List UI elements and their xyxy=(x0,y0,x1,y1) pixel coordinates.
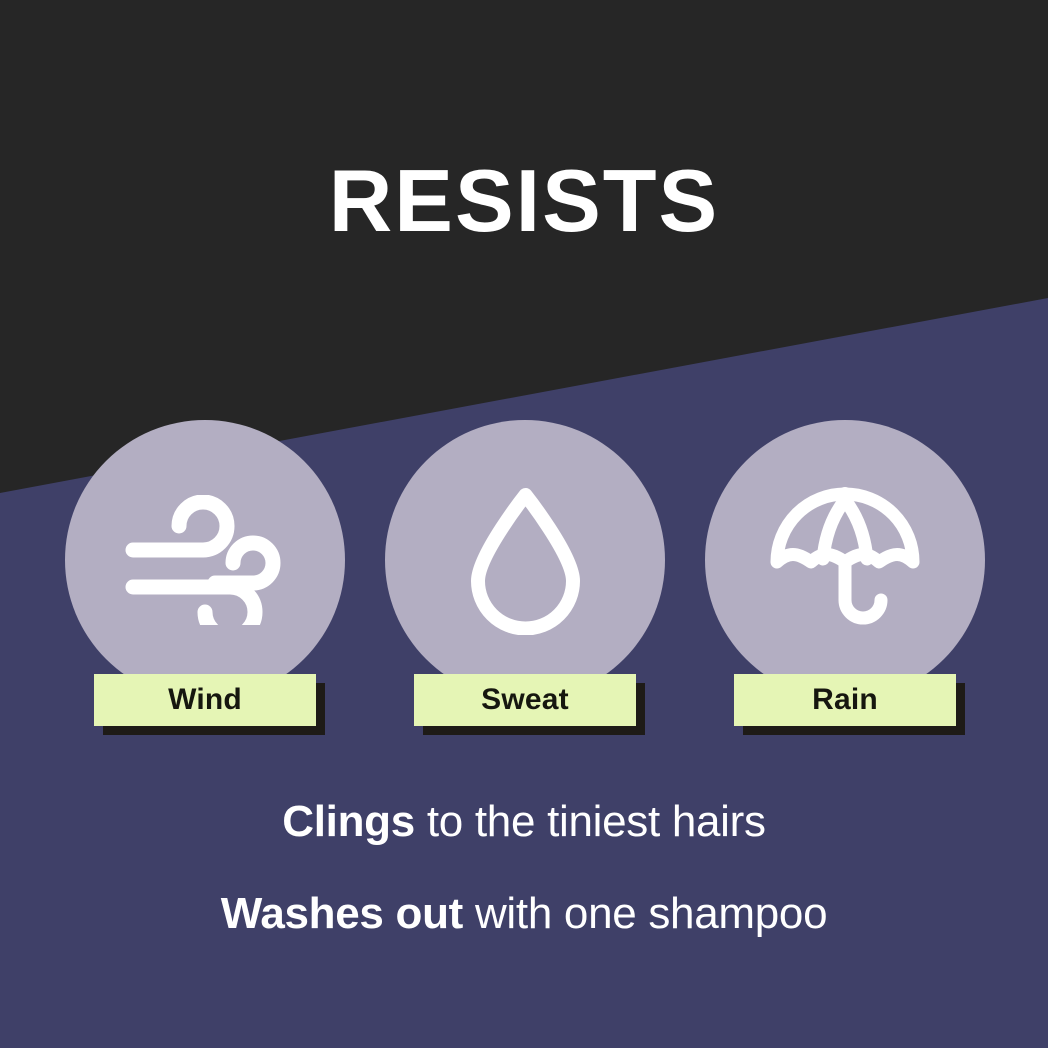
tagline-line-1: Clings to the tiniest hairs xyxy=(0,800,1048,844)
feature-icon-row: Wind Sweat xyxy=(0,410,1048,740)
feature-item-wind[interactable]: Wind xyxy=(65,410,345,740)
icon-circle-rain xyxy=(705,420,985,700)
tagline-1-rest: to the tiniest hairs xyxy=(415,797,766,846)
droplet-icon xyxy=(468,485,583,635)
tagline-line-2: Washes out with one shampoo xyxy=(0,892,1048,936)
icon-circle-sweat xyxy=(385,420,665,700)
badge-label: Sweat xyxy=(414,674,636,726)
badge-label: Rain xyxy=(734,674,956,726)
badge-rain[interactable]: Rain xyxy=(734,674,956,726)
page-title: RESISTS xyxy=(0,157,1048,245)
wind-icon xyxy=(125,495,285,625)
promo-graphic: RESISTS Wind xyxy=(0,0,1048,1048)
feature-item-sweat[interactable]: Sweat xyxy=(385,410,665,740)
badge-sweat[interactable]: Sweat xyxy=(414,674,636,726)
badge-wind[interactable]: Wind xyxy=(94,674,316,726)
umbrella-icon xyxy=(765,480,925,640)
badge-label: Wind xyxy=(94,674,316,726)
icon-circle-wind xyxy=(65,420,345,700)
tagline-2-rest: with one shampoo xyxy=(463,889,827,938)
tagline-2-bold: Washes out xyxy=(221,889,463,938)
feature-item-rain[interactable]: Rain xyxy=(705,410,985,740)
tagline-1-bold: Clings xyxy=(282,797,415,846)
tagline-block: Clings to the tiniest hairs Washes out w… xyxy=(0,800,1048,936)
